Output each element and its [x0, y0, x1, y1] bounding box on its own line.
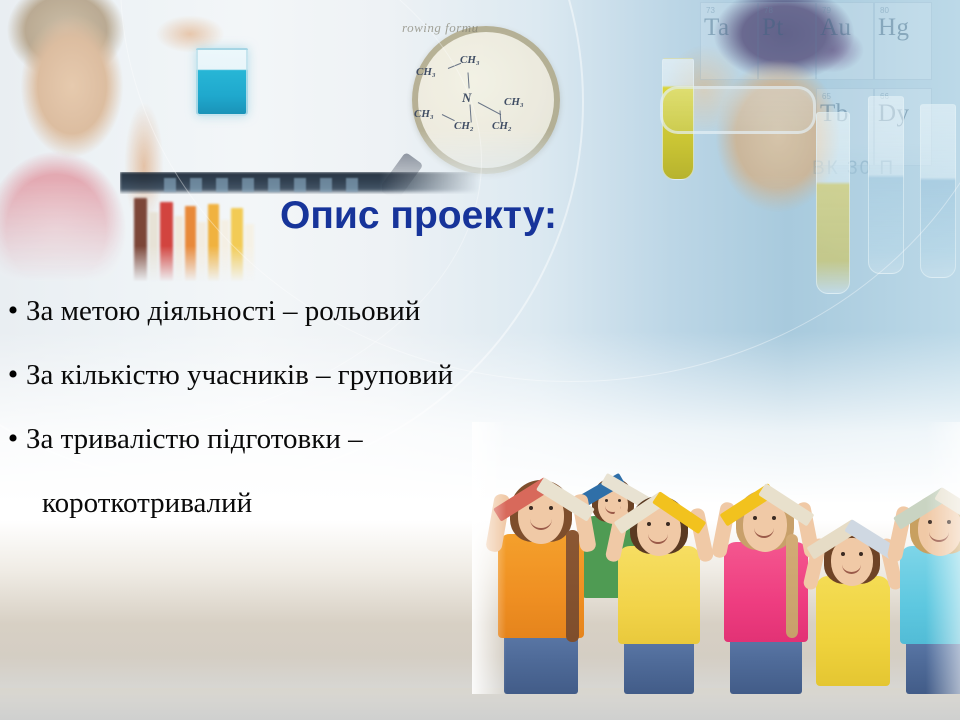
formula-atom-ch3-a: CH₃ — [416, 66, 436, 78]
ptable-num-tb: 65 — [822, 92, 831, 101]
ptable-num-pt: 78 — [764, 6, 773, 15]
formula-atom-ch3-d: CH₃ — [414, 108, 434, 120]
slide-canvas: rowing formu CH₃ CH₃ CH₃ N CH₂ CH₂ CH₃ 7… — [0, 0, 960, 720]
child-book — [488, 456, 600, 498]
page-title: Опис проекту: — [280, 193, 557, 239]
child-book — [802, 500, 902, 540]
child-5 — [802, 460, 902, 686]
child-shirt — [618, 546, 700, 644]
child-6 — [890, 454, 960, 694]
test-tube-yellow — [816, 112, 850, 294]
ptable-symbol-ta: Ta — [704, 14, 730, 42]
test-tube-clear-1 — [868, 96, 904, 274]
lab-counter-knobs — [150, 178, 370, 192]
lab-counter-band — [120, 172, 480, 194]
child-shirt — [816, 576, 890, 686]
formula-atom-ch2-a: CH₂ — [454, 120, 474, 132]
test-tube-clear-2 — [920, 104, 956, 278]
held-test-tube — [662, 58, 694, 180]
girl-with-goggles-photo — [636, 0, 960, 310]
child-jeans — [624, 636, 694, 694]
magnifier-lens — [412, 26, 560, 174]
bullet-marker: • — [0, 416, 26, 462]
bullet-text: За тривалістю підготовки – — [26, 416, 363, 462]
ptable-num-au: 79 — [822, 6, 831, 15]
ptable-symbol-au: Au — [820, 14, 852, 42]
chemistry-structure: CH₃ CH₃ CH₃ N CH₂ CH₂ CH₃ — [418, 32, 542, 156]
formula-atom-ch3-b: CH₃ — [460, 54, 480, 66]
bullet-marker: • — [0, 352, 26, 398]
child-braid — [786, 534, 798, 638]
beaker-icon — [196, 48, 248, 116]
bullet-text: За метою діяльності – рольовий — [26, 288, 420, 334]
ptable-symbol-hg: Hg — [878, 14, 910, 42]
girl-with-beaker-photo — [0, 0, 294, 294]
magnifier-page-text: rowing formu — [402, 20, 479, 36]
child-book — [608, 472, 712, 512]
formula-atom-ch3-c: CH₃ — [504, 96, 524, 108]
child-braid — [566, 530, 579, 642]
formula-atom-n: N — [462, 90, 471, 106]
ptable-symbol-pt: Pt — [762, 14, 784, 42]
bullet-text: За кількістю учасників – груповий — [26, 352, 453, 398]
formula-atom-ch2-b: CH₂ — [492, 120, 512, 132]
list-item: • За кількістю учасників – груповий — [0, 352, 620, 416]
ptable-num-ta: 73 — [706, 6, 715, 15]
child-jeans — [730, 634, 802, 694]
child-shirt — [900, 546, 960, 644]
bookshelf-spines — [132, 196, 272, 282]
child-1 — [484, 442, 600, 694]
child-jeans — [906, 636, 960, 694]
children-holding-books-photo — [472, 422, 960, 694]
bullet-marker: • — [0, 288, 26, 334]
child-book — [888, 468, 960, 510]
ptable-num-hg: 80 — [880, 6, 889, 15]
list-item: • За метою діяльності – рольовий — [0, 288, 620, 352]
child-3 — [606, 458, 716, 694]
magnifying-glass: rowing formu CH₃ CH₃ CH₃ N CH₂ CH₂ CH₃ — [382, 4, 582, 200]
safety-goggles — [660, 86, 816, 134]
